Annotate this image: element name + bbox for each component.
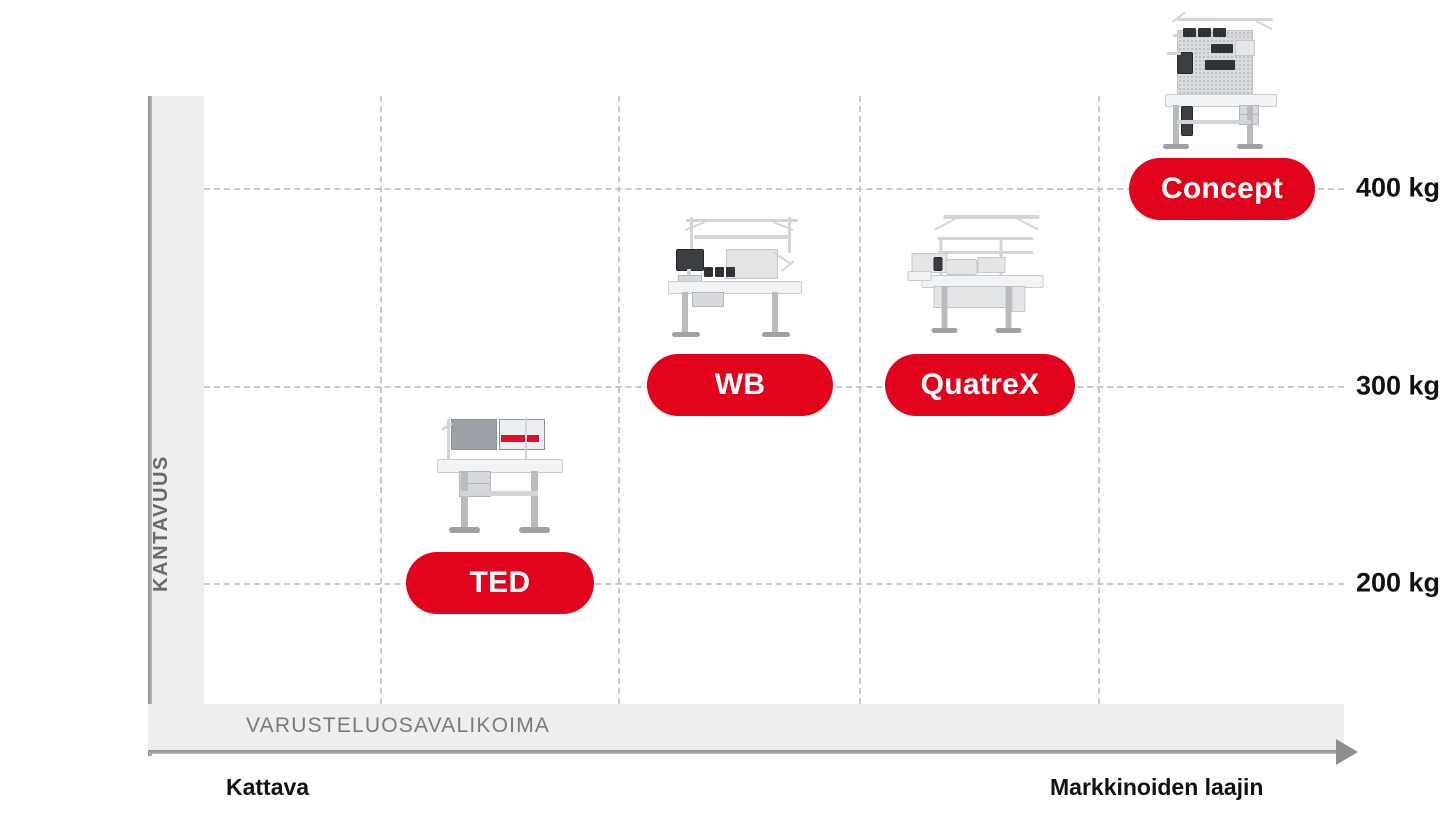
concept-workbench-photo <box>1147 4 1297 154</box>
y-axis-band <box>148 96 204 704</box>
x-axis-title: VARUSTELUOSAVALIKOIMA <box>246 714 550 738</box>
y-tick-200: 200 kg <box>1310 568 1440 599</box>
product-pill-label: QuatreX <box>921 368 1040 402</box>
ted-workbench-photo <box>421 413 579 563</box>
x-axis-line <box>148 750 1353 754</box>
gridline-v-4 <box>1098 96 1100 704</box>
wb-workbench-photo <box>660 205 820 350</box>
gridline-v-2 <box>618 96 620 704</box>
product-pill-label: TED <box>470 566 531 600</box>
gridline-h-200 <box>204 583 1344 585</box>
chart-canvas: KANTAVUUS VARUSTELUOSAVALIKOIMA 400 kg 3… <box>0 0 1440 816</box>
product-pill-concept[interactable]: Concept <box>1129 158 1315 220</box>
y-axis-title: KANTAVUUS <box>150 455 202 592</box>
gridline-v-3 <box>859 96 861 704</box>
y-tick-400: 400 kg <box>1310 173 1440 204</box>
x-tick-kattava: Kattava <box>226 774 309 801</box>
x-tick-markkinoiden-laajin: Markkinoiden laajin <box>1050 774 1263 801</box>
product-pill-label: WB <box>715 368 766 402</box>
y-axis-line <box>148 96 152 756</box>
quatrex-workbench-photo <box>898 205 1063 350</box>
product-pill-ted[interactable]: TED <box>406 552 594 614</box>
x-axis-arrow-icon <box>1336 739 1358 765</box>
product-pill-wb[interactable]: WB <box>647 354 833 416</box>
product-pill-label: Concept <box>1161 172 1283 206</box>
y-tick-300: 300 kg <box>1310 371 1440 402</box>
gridline-v-1 <box>380 96 382 704</box>
product-pill-quatrex[interactable]: QuatreX <box>885 354 1075 416</box>
